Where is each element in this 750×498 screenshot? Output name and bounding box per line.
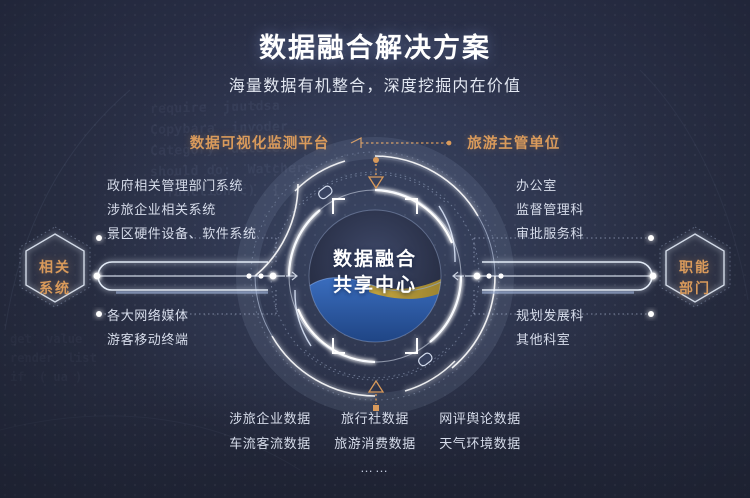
left-source-item: 景区硬件设备、软件系统 [107,222,257,246]
bottom-data-item: 旅行社数据 [323,406,428,431]
bottom-data-item: 涉旅企业数据 [218,406,323,431]
bottom-data-item: 天气环境数据 [428,431,533,456]
left-source-item: 涉旅企业相关系统 [107,198,257,222]
hexagon-left-line-1: 相关 [10,257,100,278]
bottom-data-ellipsis: …… [360,460,390,475]
left-sources-lower: 各大网络媒体 游客移动终端 [107,304,189,352]
hexagon-left-label: 相关 系统 [10,257,100,299]
bottom-data-grid: 涉旅企业数据 旅行社数据 网评舆论数据 车流客流数据 旅游消费数据 天气环境数据… [0,406,750,475]
bottom-data-row: 涉旅企业数据 旅行社数据 网评舆论数据 [218,406,533,431]
right-departments-lower: 规划发展科 其他科室 [516,304,584,352]
bottom-data-item: 车流客流数据 [218,431,323,456]
left-sources-upper: 政府相关管理部门系统 涉旅企业相关系统 景区硬件设备、软件系统 [107,174,257,246]
right-departments-upper: 办公室 监督管理科 审批服务科 [516,174,584,246]
hexagon-right-label: 职能 部门 [650,257,740,299]
hexagon-right-line-2: 部门 [650,278,740,299]
left-source-item: 政府相关管理部门系统 [107,174,257,198]
bottom-data-item: 网评舆论数据 [428,406,533,431]
right-department-item: 其他科室 [516,328,584,352]
right-department-item: 规划发展科 [516,304,584,328]
left-source-item: 各大网络媒体 [107,304,189,328]
right-department-item: 审批服务科 [516,222,584,246]
right-department-item: 监督管理科 [516,198,584,222]
hexagon-right-line-1: 职能 [650,257,740,278]
right-department-item: 办公室 [516,174,584,198]
left-source-item: 游客移动终端 [107,328,189,352]
bottom-data-row: 车流客流数据 旅游消费数据 天气环境数据 [218,431,533,456]
hexagon-left-line-2: 系统 [10,278,100,299]
bottom-data-item: 旅游消费数据 [323,431,428,456]
